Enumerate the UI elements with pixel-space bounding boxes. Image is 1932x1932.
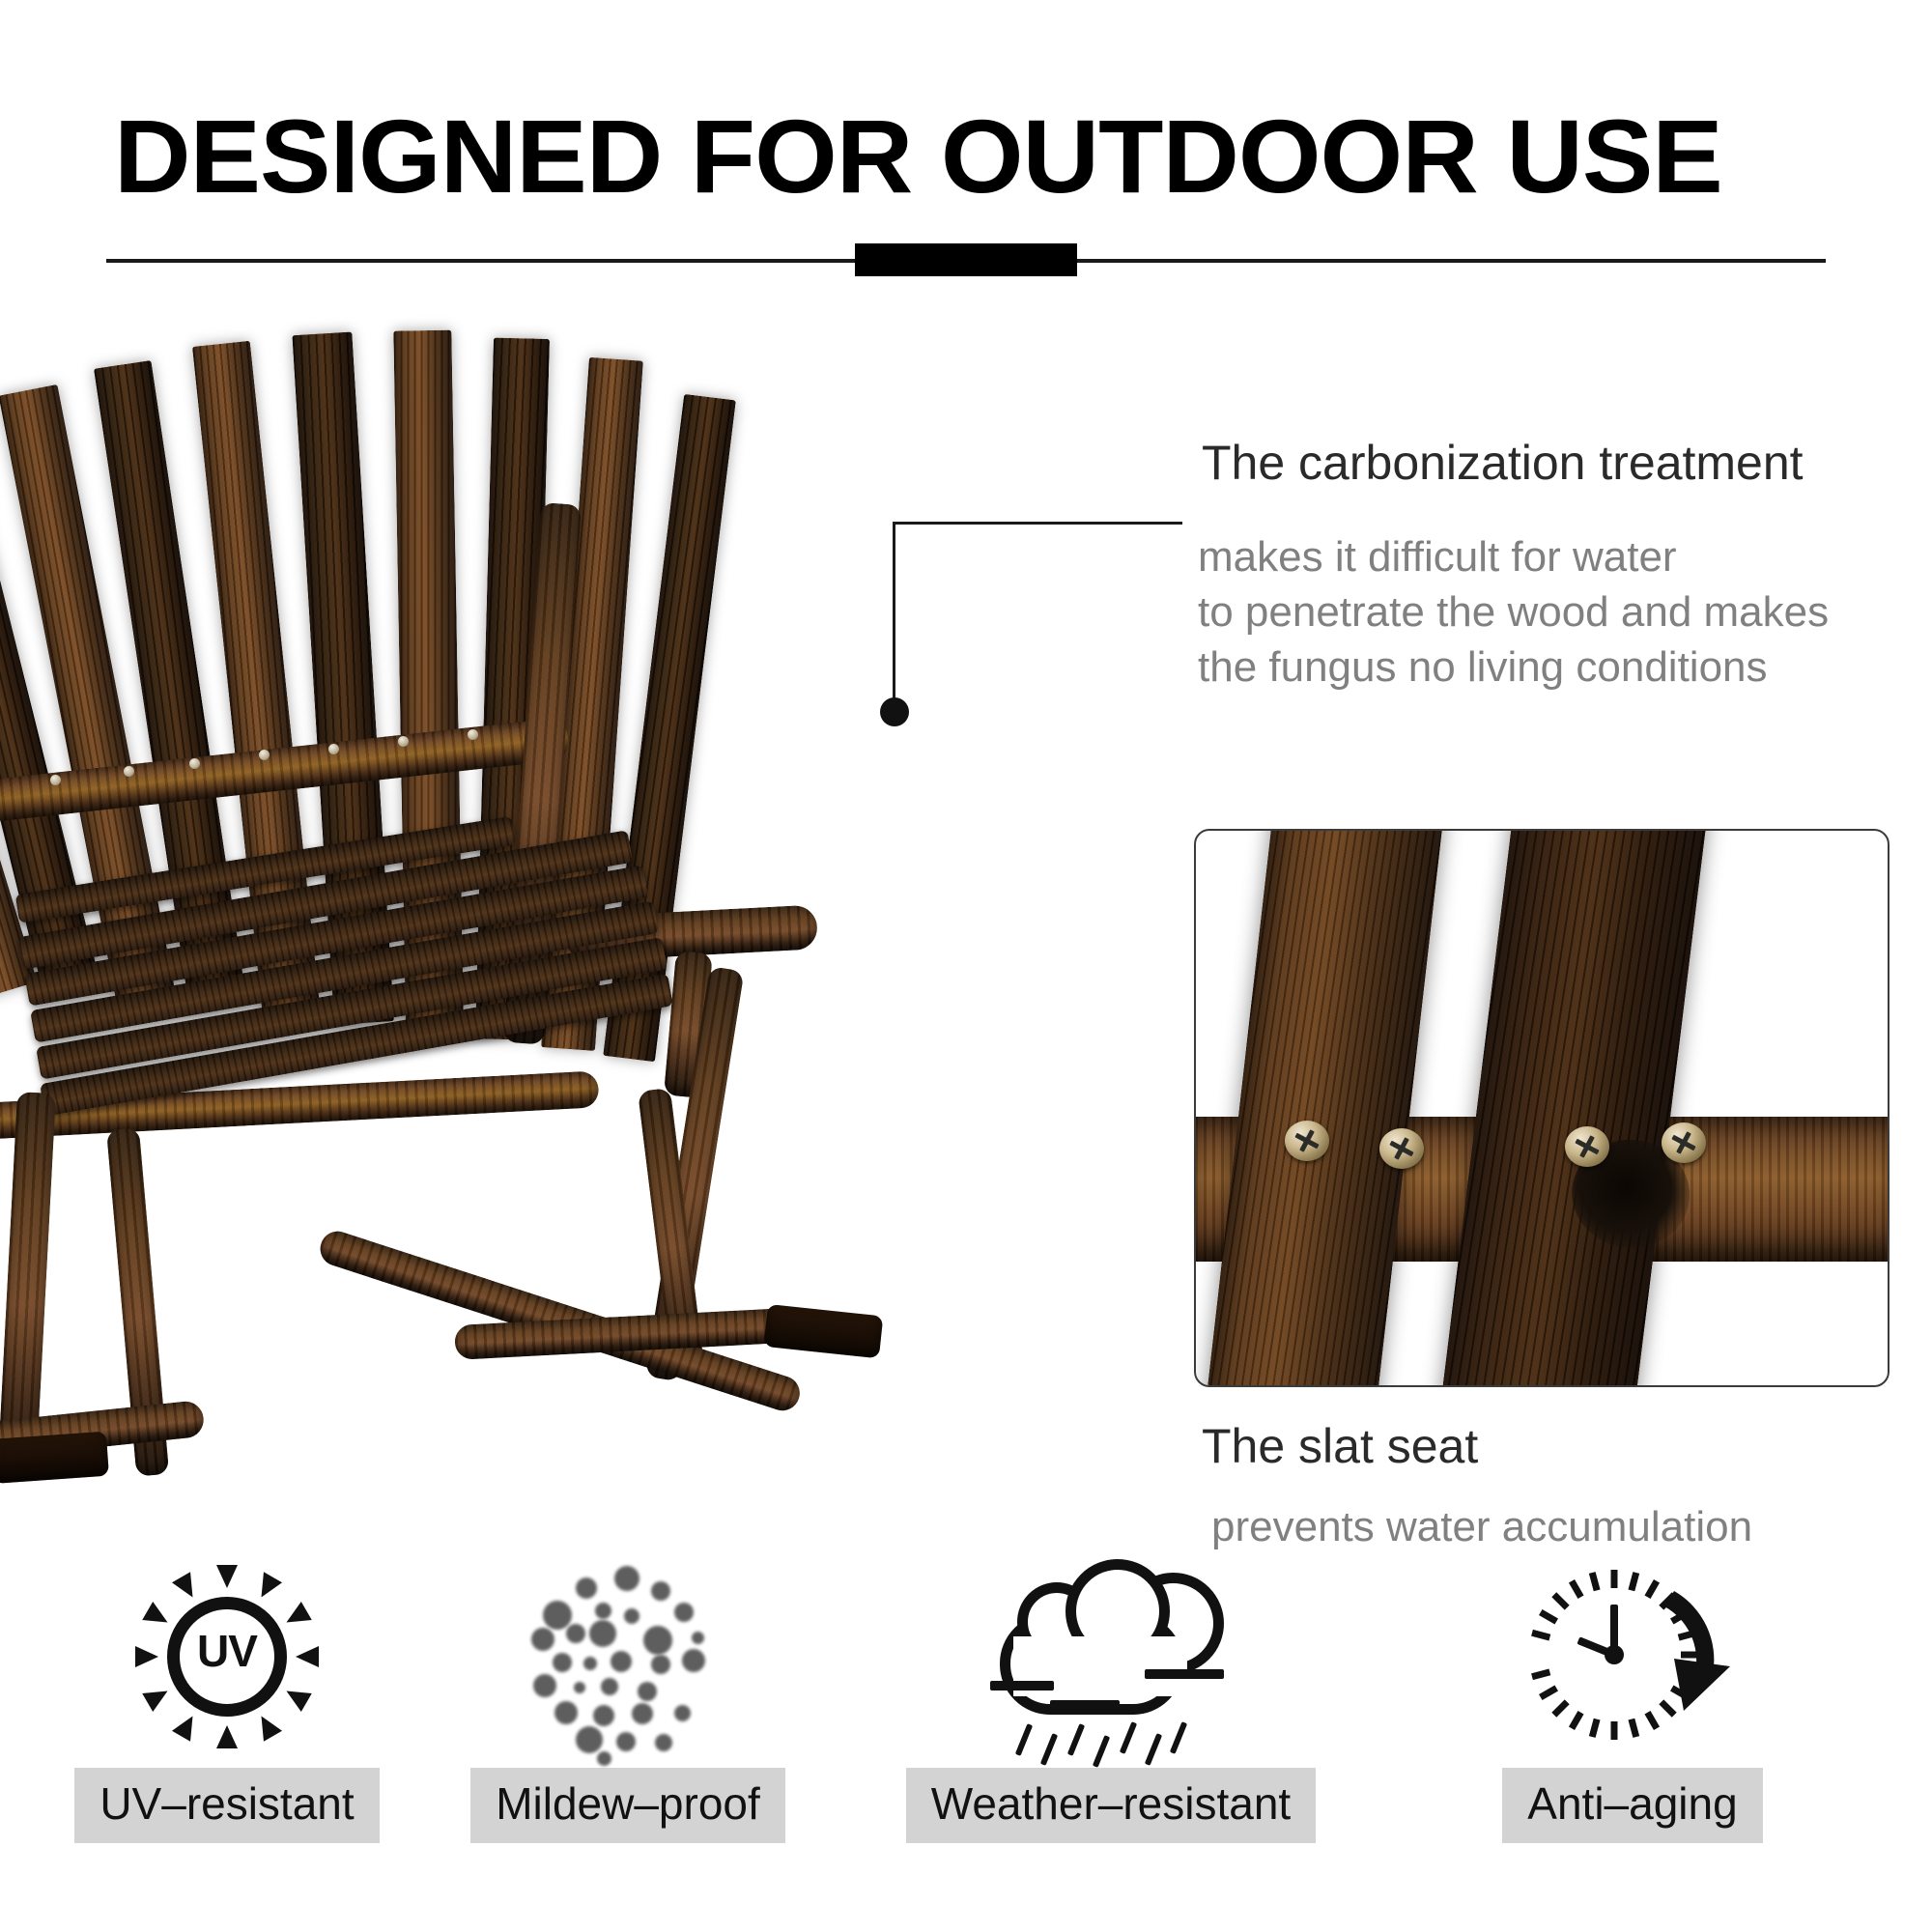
carbonization-body-line-1: makes it difficult for water — [1198, 529, 1913, 584]
uv-sun-icon: UV — [135, 1565, 319, 1748]
wind-line-left — [990, 1681, 1054, 1690]
mildew-spores-icon — [531, 1560, 724, 1753]
callout-anchor-dot — [880, 697, 909, 726]
feature-uv-resistant: UV UV–resistant — [24, 1546, 430, 1843]
clock-arrow-svg — [1529, 1558, 1737, 1756]
divider-accent-block — [855, 243, 1077, 276]
wind-line-center — [1050, 1700, 1120, 1710]
detail-slat-left — [1202, 831, 1445, 1385]
callout-leader-vertical — [893, 522, 895, 713]
detail-photo-image — [1196, 831, 1888, 1385]
weather-cloud-rain-sun-icon — [990, 1553, 1232, 1761]
carbonization-body-line-2: to penetrate the wood and makes — [1198, 584, 1913, 639]
feature-weather-resistant: Weather–resistant — [850, 1546, 1372, 1843]
feature-label-mildew-proof: Mildew–proof — [470, 1768, 785, 1843]
slat-seat-heading: The slat seat — [1202, 1418, 1478, 1474]
clock-arrow-icon — [1529, 1558, 1737, 1756]
carbonization-body-line-3: the fungus no living conditions — [1198, 639, 1913, 695]
uv-icon-label: UV — [135, 1625, 319, 1677]
uv-sun-icon-wrap: UV — [24, 1546, 430, 1768]
detail-photo-panel — [1194, 829, 1889, 1387]
carbonization-heading: The carbonization treatment — [1202, 435, 1804, 491]
detail-screw — [1285, 1121, 1329, 1161]
weather-icon-wrap — [850, 1546, 1372, 1768]
detail-slat-right — [1436, 831, 1708, 1385]
callout-leader-horizontal — [893, 522, 1182, 525]
feature-anti-aging: Anti–aging — [1391, 1546, 1874, 1843]
product-photo-rocking-bench — [0, 357, 927, 1526]
feature-mildew-proof: Mildew–proof — [425, 1546, 831, 1843]
detail-screw — [1662, 1122, 1706, 1163]
detail-screw — [1379, 1128, 1424, 1169]
carbonization-body: makes it difficult for water to penetrat… — [1198, 529, 1913, 696]
mildew-spores-icon-wrap — [425, 1546, 831, 1768]
clock-icon-wrap — [1391, 1546, 1874, 1768]
feature-label-weather-resistant: Weather–resistant — [906, 1768, 1316, 1843]
detail-screw — [1565, 1126, 1609, 1167]
page-title: DESIGNED FOR OUTDOOR USE — [114, 104, 1878, 209]
wind-line-right — [1145, 1669, 1224, 1679]
feature-label-anti-aging: Anti–aging — [1502, 1768, 1762, 1843]
feature-label-uv-resistant: UV–resistant — [74, 1768, 379, 1843]
